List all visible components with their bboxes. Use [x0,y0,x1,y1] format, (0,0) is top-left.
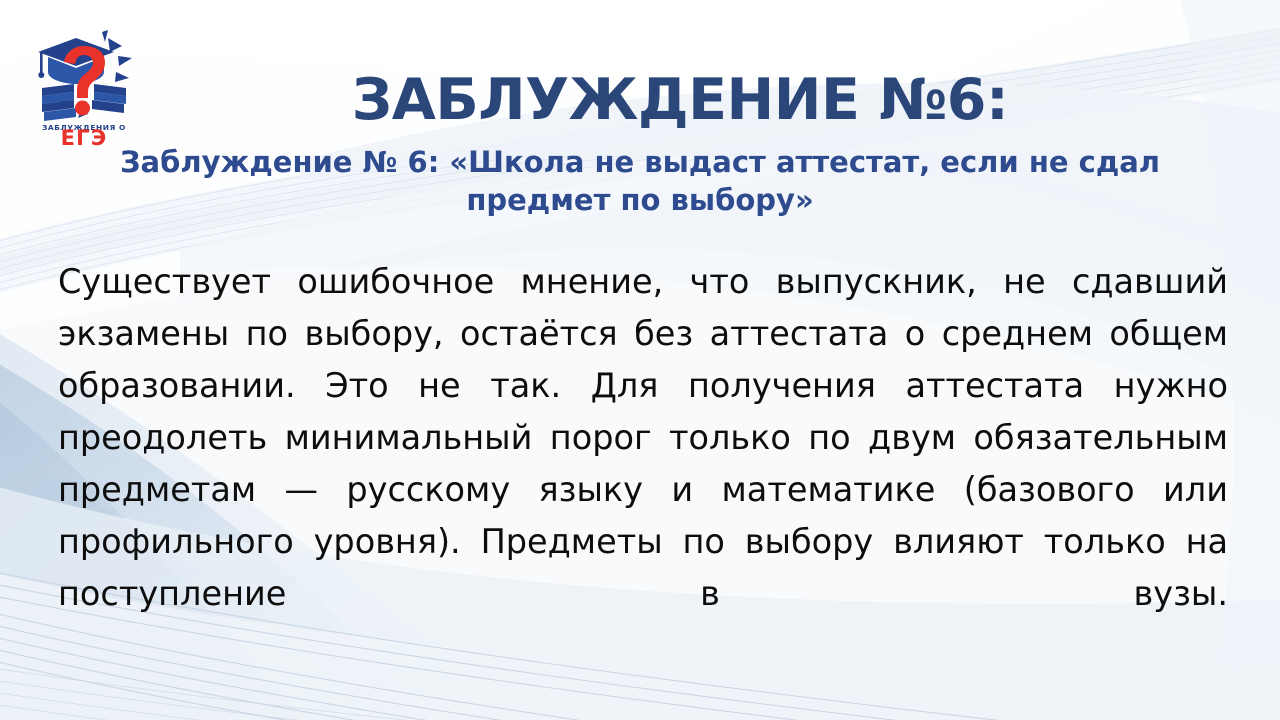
slide-title: ЗАБЛУЖДЕНИЕ №6: [0,72,1280,129]
body-block: Существует ошибочное мнение, что выпускн… [58,256,1228,673]
body-paragraph: Существует ошибочное мнение, что выпускн… [58,256,1228,673]
slide-canvas: ЗАБЛУЖДЕНИЯ О ЕГЭ ЗАБЛУЖДЕНИЕ №6: Заблуж… [0,0,1280,720]
title-block: ЗАБЛУЖДЕНИЕ №6: Заблуждение № 6: «Школа … [0,72,1280,220]
slide-subtitle: Заблуждение № 6: «Школа не выдаст аттест… [75,143,1205,220]
